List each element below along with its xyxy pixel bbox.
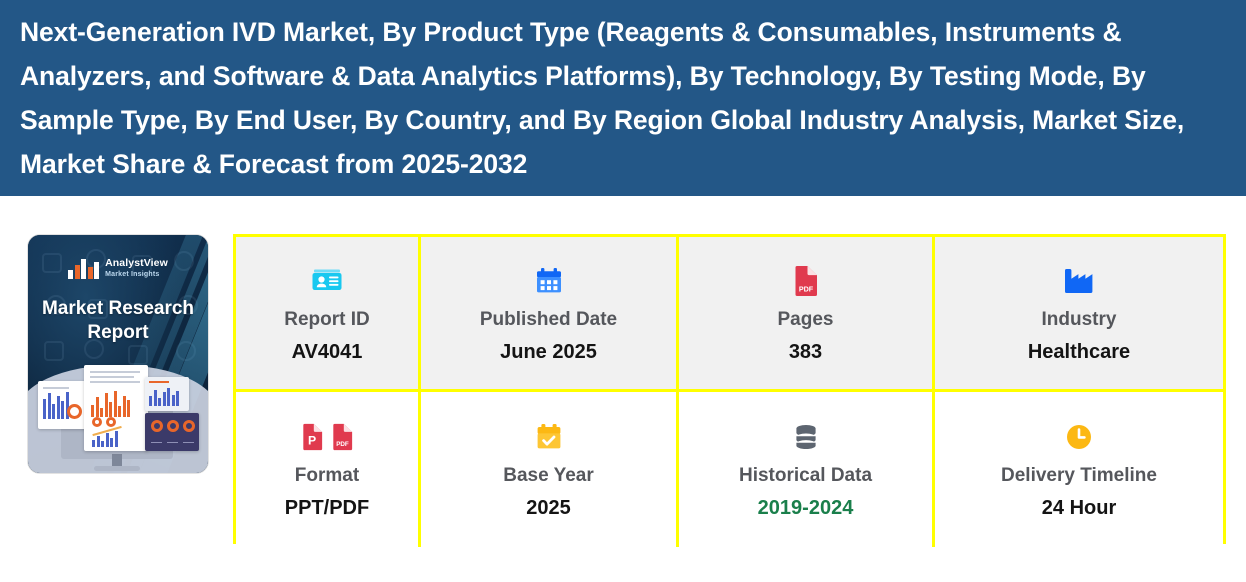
analystview-logo: AnalystView Market Insights [28, 257, 208, 279]
info-value: AV4041 [292, 338, 363, 366]
report-summary-page: Next-Generation IVD Market, By Product T… [0, 0, 1246, 582]
factory-industry-icon [1065, 261, 1093, 301]
ppt-pdf-file-icon: P PDF [302, 417, 353, 457]
info-label: Published Date [480, 307, 617, 333]
svg-text:PDF: PDF [336, 441, 349, 448]
calendar-check-icon [536, 417, 562, 457]
cover-heading-line-2: Report [28, 321, 208, 345]
page-title: Next-Generation IVD Market, By Product T… [0, 10, 1246, 186]
info-label: Industry [1042, 307, 1117, 333]
report-cover-art: AnalystView Market Insights Market Resea… [28, 235, 208, 473]
info-cell-industry: Industry Healthcare [935, 237, 1223, 392]
cover-chart-card-main [84, 365, 148, 451]
info-value: June 2025 [500, 338, 597, 366]
database-icon [793, 417, 819, 457]
info-value: 24 Hour [1042, 494, 1116, 522]
report-meta-section: AnalystView Market Insights Market Resea… [0, 196, 1246, 582]
report-cover-thumbnail[interactable]: AnalystView Market Insights Market Resea… [28, 235, 208, 473]
logo-brand-tagline: Market Insights [105, 271, 168, 278]
info-value: PPT/PDF [285, 494, 369, 522]
logo-brand-name: AnalystView [105, 258, 168, 269]
cover-chart-card-bottom-right [145, 413, 199, 451]
svg-text:PDF: PDF [798, 284, 813, 293]
pdf-file-icon: PDF [794, 261, 818, 301]
clock-icon [1066, 417, 1092, 457]
info-value: 2019-2024 [758, 494, 854, 522]
info-label: Delivery Timeline [1001, 463, 1157, 489]
id-card-icon [312, 261, 342, 301]
info-value: Healthcare [1028, 338, 1130, 366]
cover-chart-card-left [38, 381, 88, 429]
cover-heading-line-1: Market Research [28, 297, 208, 321]
info-cell-report-id: Report ID AV4041 [236, 237, 421, 392]
svg-text:P: P [307, 433, 315, 447]
cover-chart-card-top-right [145, 377, 189, 411]
info-cell-delivery-timeline: Delivery Timeline 24 Hour [935, 392, 1223, 547]
info-label: Report ID [284, 307, 370, 333]
info-cell-historical-data: Historical Data 2019-2024 [679, 392, 935, 547]
info-cell-format: P PDF Format PPT/PDF [236, 392, 421, 547]
info-label: Historical Data [739, 463, 872, 489]
info-cell-published-date: Published Date June 2025 [421, 237, 679, 392]
info-cell-pages: PDF Pages 383 [679, 237, 935, 392]
cover-illustration [28, 353, 208, 473]
info-label: Pages [778, 307, 834, 333]
page-header: Next-Generation IVD Market, By Product T… [0, 0, 1246, 196]
info-cell-base-year: Base Year 2025 [421, 392, 679, 547]
cover-heading: Market Research Report [28, 297, 208, 345]
logo-bars-icon [68, 257, 99, 279]
calendar-icon [536, 261, 562, 301]
info-value: 383 [789, 338, 822, 366]
report-attributes-grid: Report ID AV4041 [233, 234, 1226, 544]
info-label: Base Year [503, 463, 594, 489]
info-value: 2025 [526, 494, 571, 522]
info-label: Format [295, 463, 359, 489]
